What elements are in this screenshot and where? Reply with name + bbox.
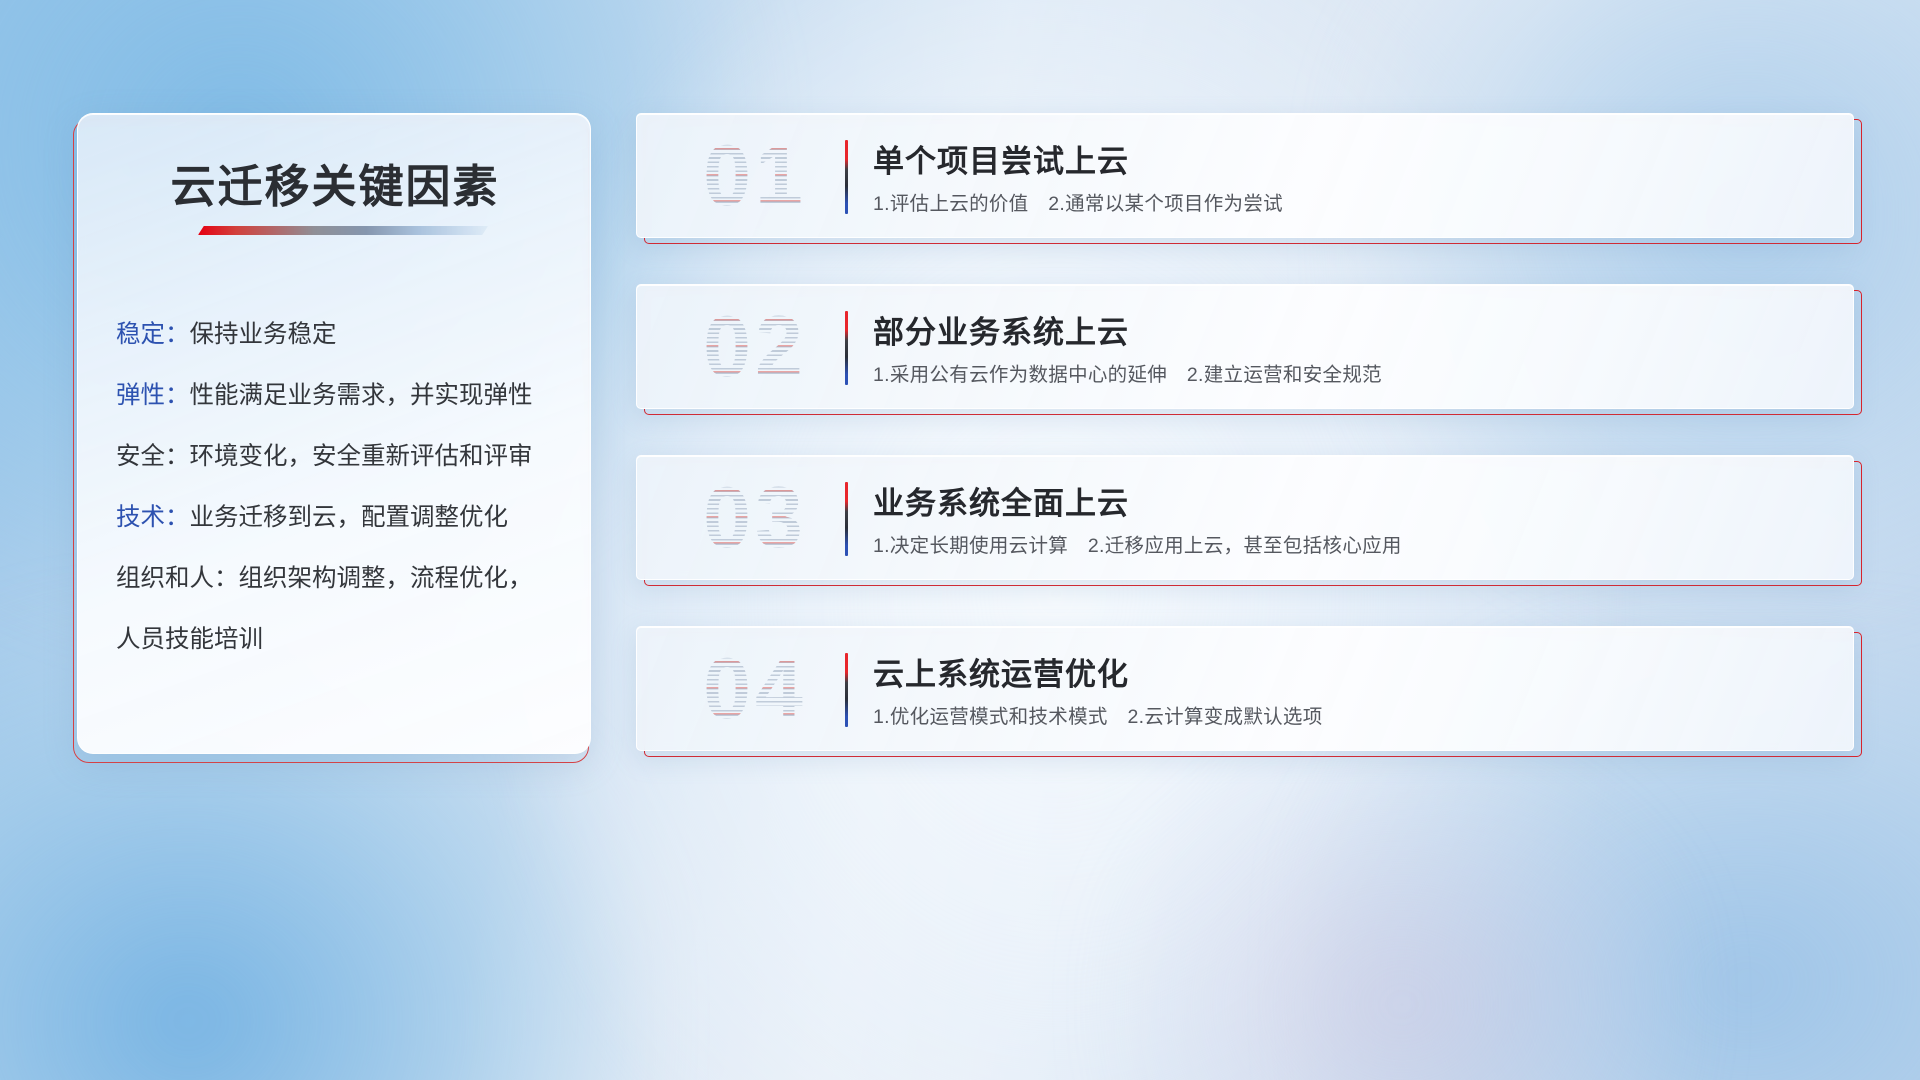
factor-label: 稳定： [116, 321, 190, 348]
page-title: 云迁移关键因素 [78, 150, 591, 215]
step-number: 02 [665, 293, 845, 401]
step-title: 部分业务系统上云 [873, 307, 1129, 352]
factor-value: 保持业务稳定 [190, 321, 337, 348]
step-title: 单个项目尝试上云 [873, 136, 1129, 181]
step-divider-bar [845, 653, 848, 727]
step-number: 03 [665, 464, 845, 572]
step-description: 1.评估上云的价值 2.通常以某个项目作为尝试 [873, 187, 1283, 216]
step-number: 04 [665, 635, 845, 743]
factor-value: 性能满足业务需求，并实现弹性 [190, 382, 533, 409]
factor-value: 环境变化，安全重新评估和评审 [190, 443, 533, 470]
factor-label: 技术： [116, 504, 190, 531]
step-description: 1.优化运营模式和技术模式 2.云计算变成默认选项 [873, 700, 1323, 729]
step-number: 01 [665, 122, 845, 230]
step-description: 1.决定长期使用云计算 2.迁移应用上云，甚至包括核心应用 [873, 529, 1402, 558]
step-card-02[interactable]: 0202部分业务系统上云1.采用公有云作为数据中心的延伸 2.建立运营和安全规范 [636, 284, 1854, 409]
factor-value: 业务迁移到云，配置调整优化 [190, 504, 509, 531]
factor-value: 组织架构调整，流程优化， [239, 565, 533, 592]
step-card-surface: 0101单个项目尝试上云1.评估上云的价值 2.通常以某个项目作为尝试 [636, 113, 1854, 238]
step-divider-bar [845, 140, 848, 214]
factor-item: 技术：业务迁移到云，配置调整优化 [116, 487, 572, 548]
factor-item: 安全：环境变化，安全重新评估和评审 [116, 426, 572, 487]
title-underline-gradient [198, 226, 488, 235]
step-title: 业务系统全面上云 [873, 478, 1129, 523]
factor-label: 安全： [116, 443, 190, 470]
step-card-04[interactable]: 0404云上系统运营优化1.优化运营模式和技术模式 2.云计算变成默认选项 [636, 626, 1854, 751]
factor-value: 人员技能培训 [116, 626, 263, 653]
step-card-03[interactable]: 0303业务系统全面上云1.决定长期使用云计算 2.迁移应用上云，甚至包括核心应… [636, 455, 1854, 580]
factor-label: 弹性： [116, 382, 190, 409]
panel-card-surface: 云迁移关键因素 稳定：保持业务稳定弹性：性能满足业务需求，并实现弹性安全：环境变… [77, 113, 591, 754]
step-divider-bar [845, 482, 848, 556]
step-divider-bar [845, 311, 848, 385]
step-title: 云上系统运营优化 [873, 649, 1129, 694]
step-card-surface: 0303业务系统全面上云1.决定长期使用云计算 2.迁移应用上云，甚至包括核心应… [636, 455, 1854, 580]
factor-list: 稳定：保持业务稳定弹性：性能满足业务需求，并实现弹性安全：环境变化，安全重新评估… [116, 304, 572, 670]
factor-item: 弹性：性能满足业务需求，并实现弹性 [116, 365, 572, 426]
migration-steps-list: 0101单个项目尝试上云1.评估上云的价值 2.通常以某个项目作为尝试0202部… [636, 113, 1854, 797]
step-card-surface: 0404云上系统运营优化1.优化运营模式和技术模式 2.云计算变成默认选项 [636, 626, 1854, 751]
step-card-01[interactable]: 0101单个项目尝试上云1.评估上云的价值 2.通常以某个项目作为尝试 [636, 113, 1854, 238]
factor-item: 人员技能培训 [116, 609, 572, 670]
step-description: 1.采用公有云作为数据中心的延伸 2.建立运营和安全规范 [873, 358, 1382, 387]
factor-item: 稳定：保持业务稳定 [116, 304, 572, 365]
step-card-surface: 0202部分业务系统上云1.采用公有云作为数据中心的延伸 2.建立运营和安全规范 [636, 284, 1854, 409]
factor-label: 组织和人： [116, 565, 239, 592]
factor-item: 组织和人：组织架构调整，流程优化， [116, 548, 572, 609]
key-factors-panel: 云迁移关键因素 稳定：保持业务稳定弹性：性能满足业务需求，并实现弹性安全：环境变… [75, 113, 591, 757]
